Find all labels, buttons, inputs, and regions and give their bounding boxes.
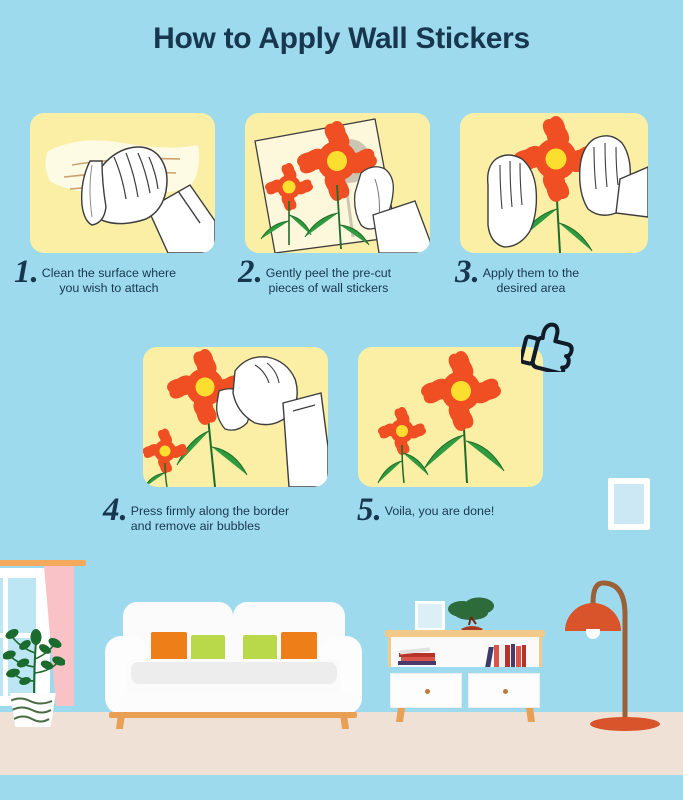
book-upright: [494, 645, 499, 667]
book-upright: [516, 646, 521, 667]
sideboard: [385, 630, 545, 728]
picture-frame-inner: [418, 604, 442, 628]
wall-picture-frame: [608, 478, 650, 530]
lamp-pole: [565, 545, 645, 730]
book-stack-item: [398, 661, 436, 665]
step-1-caption: 1. Clean the surface where you wish to a…: [14, 259, 229, 296]
sideboard-top: [385, 630, 545, 637]
step-2-number: 2.: [238, 259, 266, 285]
step-1-number: 1.: [14, 259, 42, 285]
sofa-frame-bar: [109, 712, 357, 718]
curtain-rod: [0, 560, 86, 566]
book-upright: [485, 647, 494, 667]
book-upright: [500, 644, 504, 667]
pillow-orange-left: [151, 632, 187, 662]
picture-frame-on-sideboard: [415, 601, 445, 631]
book-upright: [505, 645, 510, 667]
wall-picture-frame-inner: [614, 484, 644, 524]
sofa-leg-left: [116, 714, 125, 729]
step-2-caption-text: Gently peel the pre-cut pieces of wall s…: [266, 259, 391, 296]
sideboard-drawer-right[interactable]: [468, 673, 540, 708]
step-1-illustration: [30, 113, 215, 253]
sideboard-leg-left: [396, 708, 405, 722]
plant-pot: [7, 693, 59, 727]
room-scene: [0, 450, 683, 800]
infographic-poster: How to Apply Wall Stickers: [0, 0, 683, 800]
bonsai-plant: [445, 597, 499, 631]
bottom-strip: [0, 775, 683, 800]
sideboard-shelf: [388, 637, 542, 667]
step-3-number: 3.: [455, 259, 483, 285]
pot-pattern: [7, 693, 59, 727]
sofa: [105, 602, 360, 727]
sideboard-drawer-left[interactable]: [390, 673, 462, 708]
step-3-caption-text: Apply them to the desired area: [483, 259, 579, 296]
thumbs-up-icon: [521, 320, 579, 372]
page-title: How to Apply Wall Stickers: [0, 22, 683, 56]
potted-plant: [3, 615, 65, 727]
lamp-base: [590, 717, 660, 731]
step-3-caption: 3. Apply them to the desired area: [455, 259, 655, 296]
step-2-illustration: [245, 113, 430, 253]
step-3-illustration: [460, 113, 648, 253]
step-1-caption-text: Clean the surface where you wish to atta…: [42, 259, 176, 296]
drawer-knob[interactable]: [503, 689, 508, 694]
book-upright: [522, 645, 526, 667]
drawer-knob[interactable]: [425, 689, 430, 694]
step-2-caption: 2. Gently peel the pre-cut pieces of wal…: [238, 259, 443, 296]
sideboard-leg-right: [526, 708, 535, 722]
floor-lamp: [565, 545, 645, 730]
pillow-orange-right: [281, 632, 317, 662]
sofa-seat-cushion-shadow: [131, 662, 337, 684]
book-upright: [511, 644, 515, 667]
